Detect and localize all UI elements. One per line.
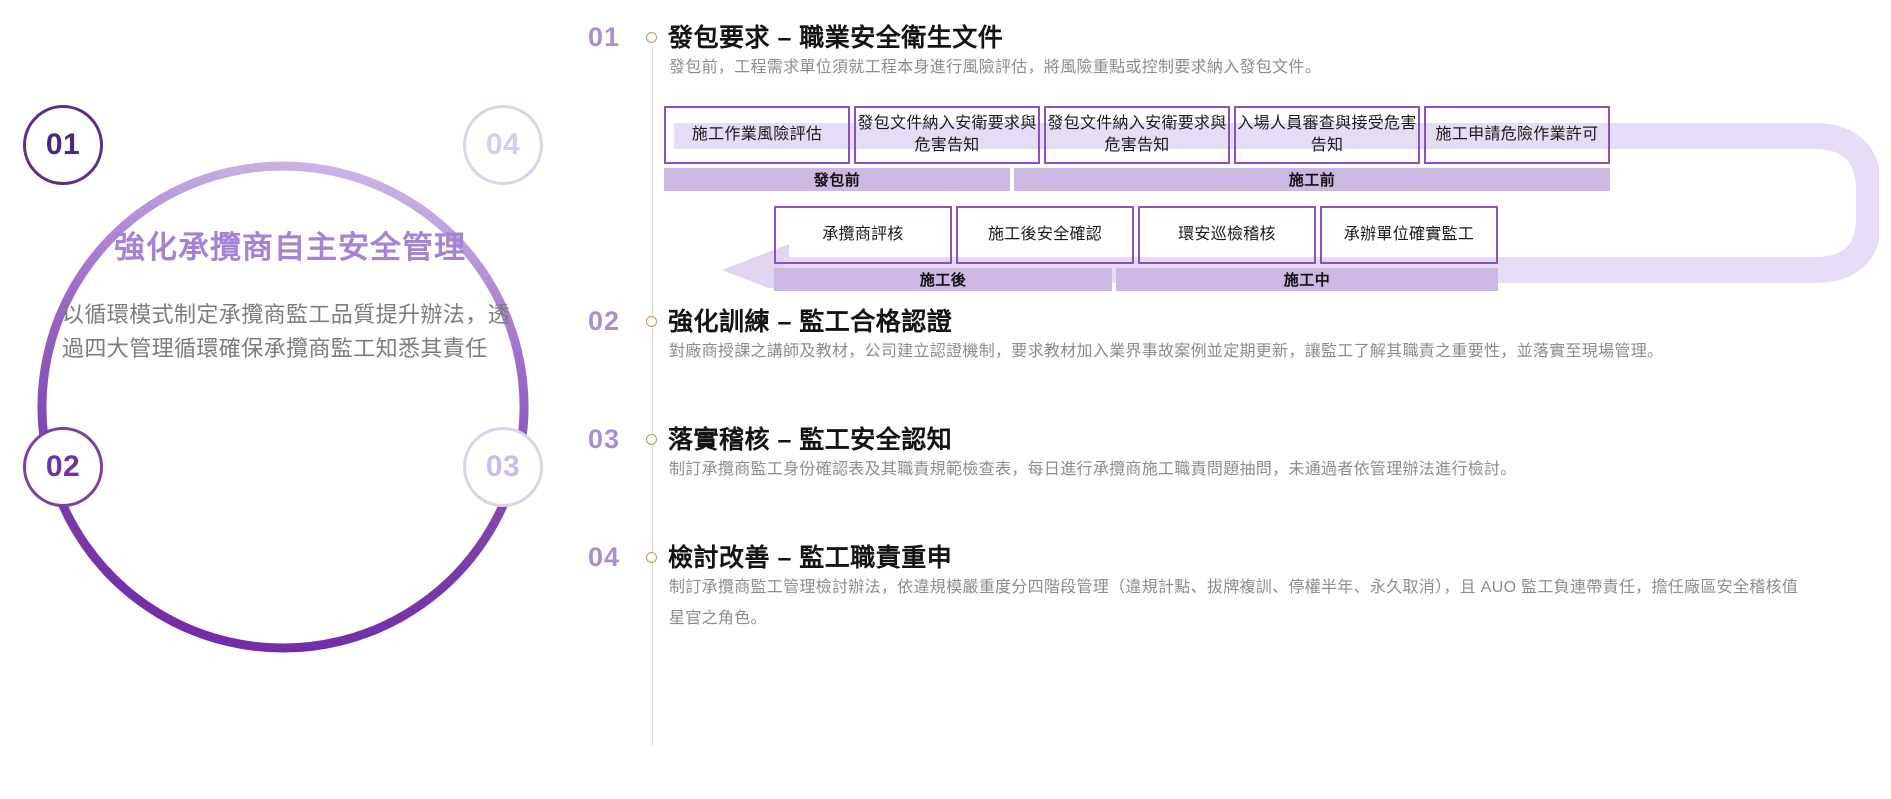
- cycle-node-02[interactable]: 02: [23, 427, 103, 507]
- cycle-title: 強化承攬商自主安全管理: [55, 222, 525, 267]
- flow-box-r1-4: 入場人員審查與接受危害告知: [1234, 106, 1420, 164]
- cycle-node-03[interactable]: 03: [463, 427, 543, 507]
- cycle-node-04[interactable]: 04: [463, 105, 543, 185]
- flow-box-r2-3: 環安巡檢稽核: [1138, 206, 1316, 264]
- flow-box-r1-3: 發包文件納入安衛要求與危害告知: [1044, 106, 1230, 164]
- cycle-node-01[interactable]: 01: [23, 105, 103, 185]
- flow-box-r1-1: 施工作業風險評估: [664, 106, 850, 164]
- step-number-02: 02: [588, 306, 620, 337]
- step-number-03: 03: [588, 424, 620, 455]
- flow-box-r2-4: 承辦單位確實監工: [1320, 206, 1498, 264]
- step-bullet-03-icon: [646, 434, 657, 445]
- cycle-panel: 01 04 02 03 強化承攬商自主安全管理 以循環模式制定承攬商監工品質提升…: [0, 0, 580, 799]
- step-body-01: 發包前，工程需求單位須就工程本身進行風險評估，將風險重點或控制要求納入發包文件。: [669, 52, 1829, 83]
- cycle-description: 以循環模式制定承攬商監工品質提升辦法，透過四大管理循環確保承攬商監工知悉其責任: [62, 298, 512, 366]
- flow-box-r1-5: 施工申請危險作業許可: [1424, 106, 1610, 164]
- step-title-02: 強化訓練 – 監工合格認證: [668, 302, 952, 338]
- flow-stage-bar-r2-1: 施工後: [774, 268, 1112, 291]
- flow-box-r1-2: 發包文件納入安衛要求與危害告知: [854, 106, 1040, 164]
- steps-panel: 01 發包要求 – 職業安全衛生文件 發包前，工程需求單位須就工程本身進行風險評…: [580, 0, 1891, 799]
- step-number-04: 04: [588, 542, 620, 573]
- cycle-node-03-label: 03: [486, 450, 520, 484]
- cycle-node-01-label: 01: [46, 128, 80, 162]
- step-bullet-02-icon: [646, 316, 657, 327]
- step-title-01: 發包要求 – 職業安全衛生文件: [668, 18, 1003, 54]
- slide-canvas: 01 04 02 03 強化承攬商自主安全管理 以循環模式制定承攬商監工品質提升…: [0, 0, 1891, 799]
- cycle-node-04-label: 04: [486, 128, 520, 162]
- flow-stage-bar-r1-2: 施工前: [1014, 168, 1610, 191]
- step-number-01: 01: [588, 22, 620, 53]
- flow-box-r2-1: 承攬商評核: [774, 206, 952, 264]
- step-title-04: 檢討改善 – 監工職責重申: [668, 538, 952, 574]
- step-body-02: 對廠商授課之講師及教材，公司建立認證機制，要求教材加入業界事故案例並定期更新，讓…: [669, 336, 1829, 367]
- flow-box-r2-2: 施工後安全確認: [956, 206, 1134, 264]
- cycle-node-02-label: 02: [46, 450, 80, 484]
- step-body-04: 制訂承攬商監工管理檢討辦法，依違規模嚴重度分四階段管理（違規計點、拔牌複訓、停權…: [669, 572, 1804, 634]
- step-bullet-04-icon: [646, 552, 657, 563]
- step-title-03: 落實稽核 – 監工安全認知: [668, 420, 952, 456]
- flow-stage-bar-r2-2: 施工中: [1116, 268, 1498, 291]
- step-bullet-01-icon: [646, 32, 657, 43]
- process-flow-diagram: 施工作業風險評估 發包文件納入安衛要求與危害告知 發包文件納入安衛要求與危害告知…: [664, 98, 1879, 288]
- flow-stage-bar-r1-1: 發包前: [664, 168, 1010, 191]
- step-body-03: 制訂承攬商監工身份確認表及其職責規範檢查表，每日進行承攬商施工職責問題抽問，未通…: [669, 454, 1829, 485]
- timeline-rail: [652, 46, 653, 746]
